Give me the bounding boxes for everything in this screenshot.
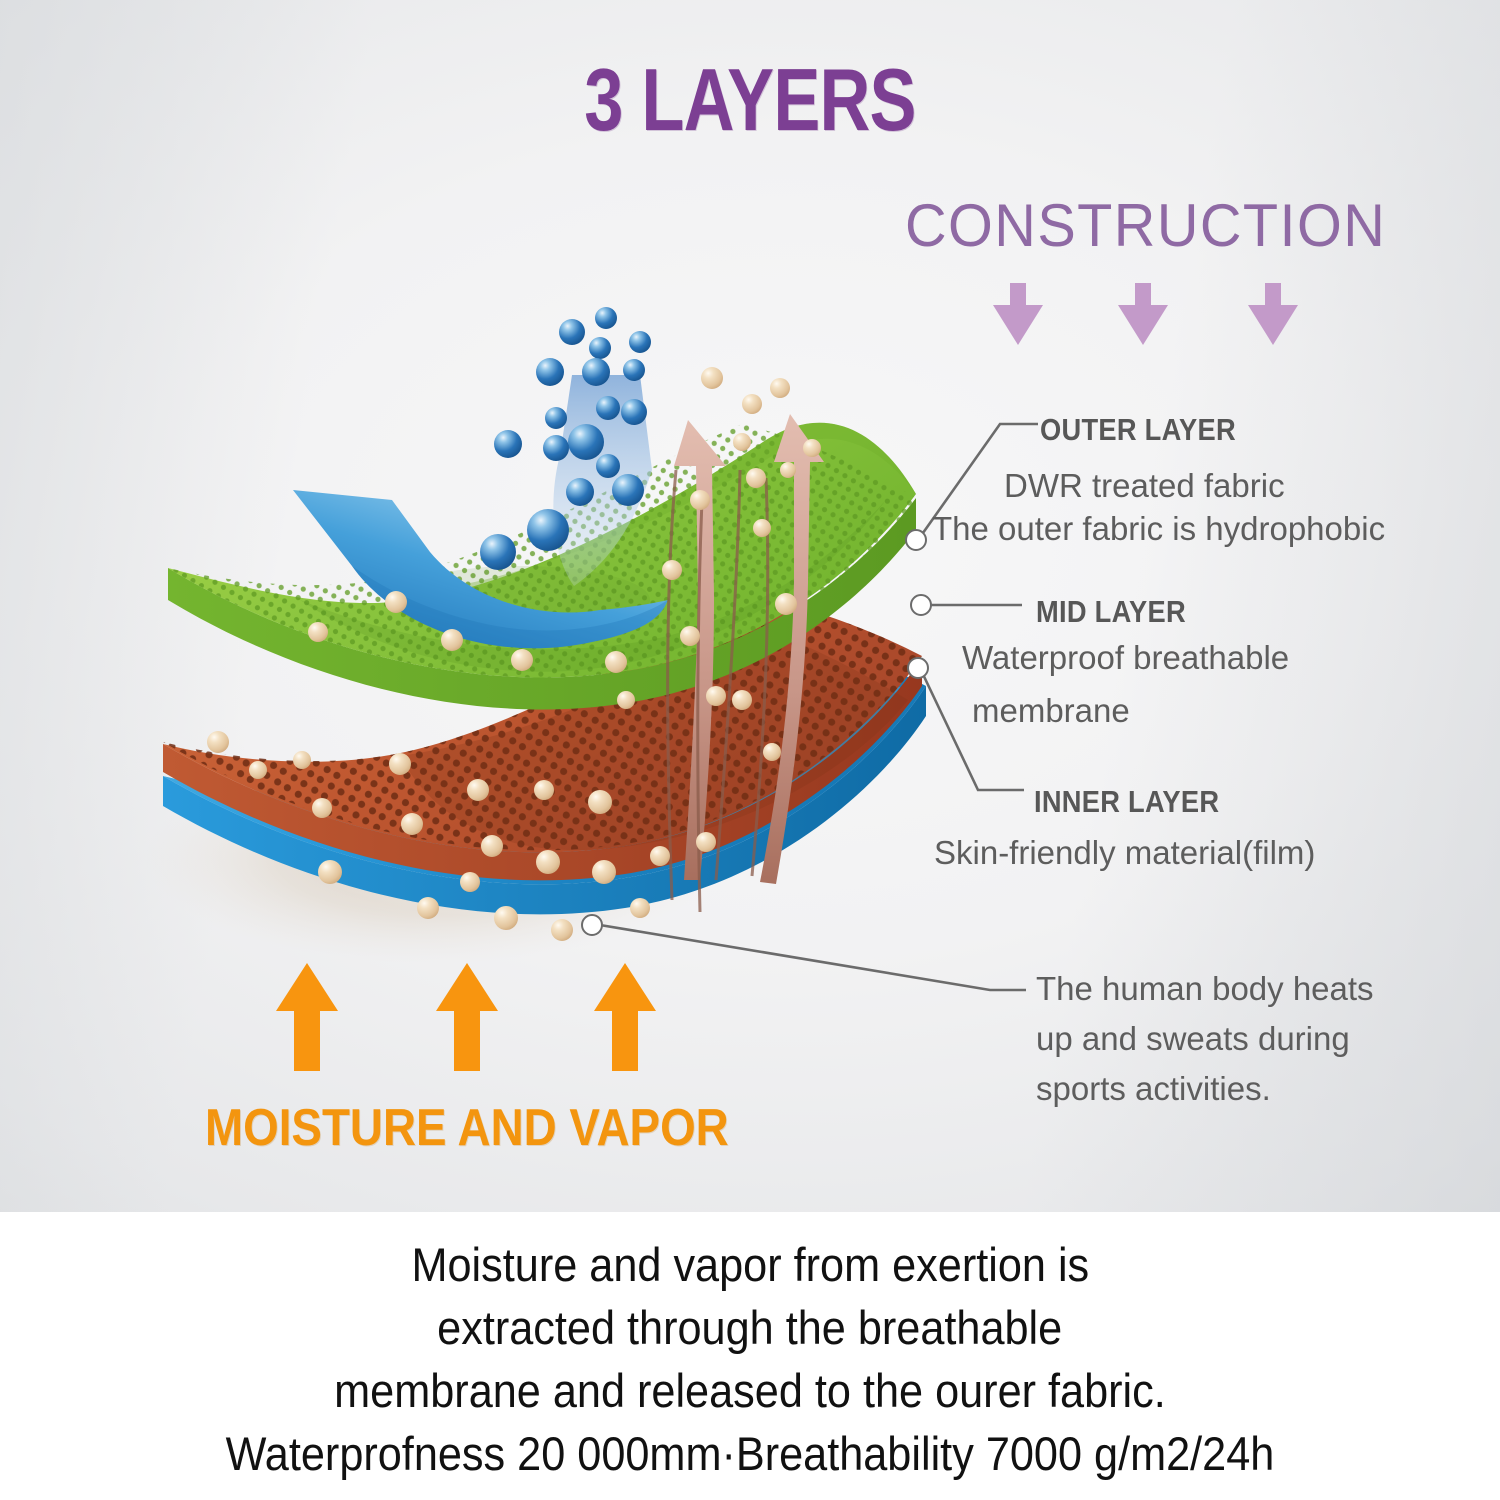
caption-line-4: Waterprofness 20 000mm·Breathability 700… bbox=[226, 1422, 1275, 1485]
caption-line-2: extracted through the breathable bbox=[437, 1296, 1062, 1359]
moisture-vapor-label: MOISTURE AND VAPOR bbox=[205, 1098, 729, 1158]
mid-layer-line-2: membrane bbox=[972, 690, 1130, 732]
inner-layer-heading: INNER LAYER bbox=[1034, 784, 1219, 820]
inner-layer-line-1: Skin-friendly material(film) bbox=[934, 832, 1315, 874]
infographic-root: 3 LAYERS CONSTRUCTION bbox=[0, 0, 1500, 1500]
caption-line-1: Moisture and vapor from exertion is bbox=[411, 1233, 1089, 1296]
body-note-line-1: The human body heats bbox=[1036, 968, 1374, 1010]
up-arrow-icon bbox=[436, 963, 498, 1071]
outer-layer-line-1: DWR treated fabric bbox=[1004, 465, 1285, 507]
caption-block: Moisture and vapor from exertion is extr… bbox=[0, 1212, 1500, 1500]
outer-layer-line-2: The outer fabric is hydrophobic bbox=[932, 508, 1385, 550]
caption-line-3: membrane and released to the ourer fabri… bbox=[334, 1359, 1166, 1422]
up-arrow-icon bbox=[276, 963, 338, 1071]
callout-dot-icon bbox=[910, 594, 932, 616]
callout-dot-icon bbox=[907, 657, 929, 679]
body-note-line-2: up and sweats during bbox=[1036, 1018, 1350, 1060]
callout-dot-icon bbox=[581, 914, 603, 936]
up-arrow-icon bbox=[594, 963, 656, 1071]
mid-layer-heading: MID LAYER bbox=[1036, 594, 1186, 630]
mid-layer-line-1: Waterproof breathable bbox=[962, 637, 1289, 679]
infographic-panel: 3 LAYERS CONSTRUCTION bbox=[0, 0, 1500, 1212]
body-note-line-3: sports activities. bbox=[1036, 1068, 1271, 1110]
callout-dot-icon bbox=[905, 529, 927, 551]
outer-layer-heading: OUTER LAYER bbox=[1040, 412, 1236, 448]
